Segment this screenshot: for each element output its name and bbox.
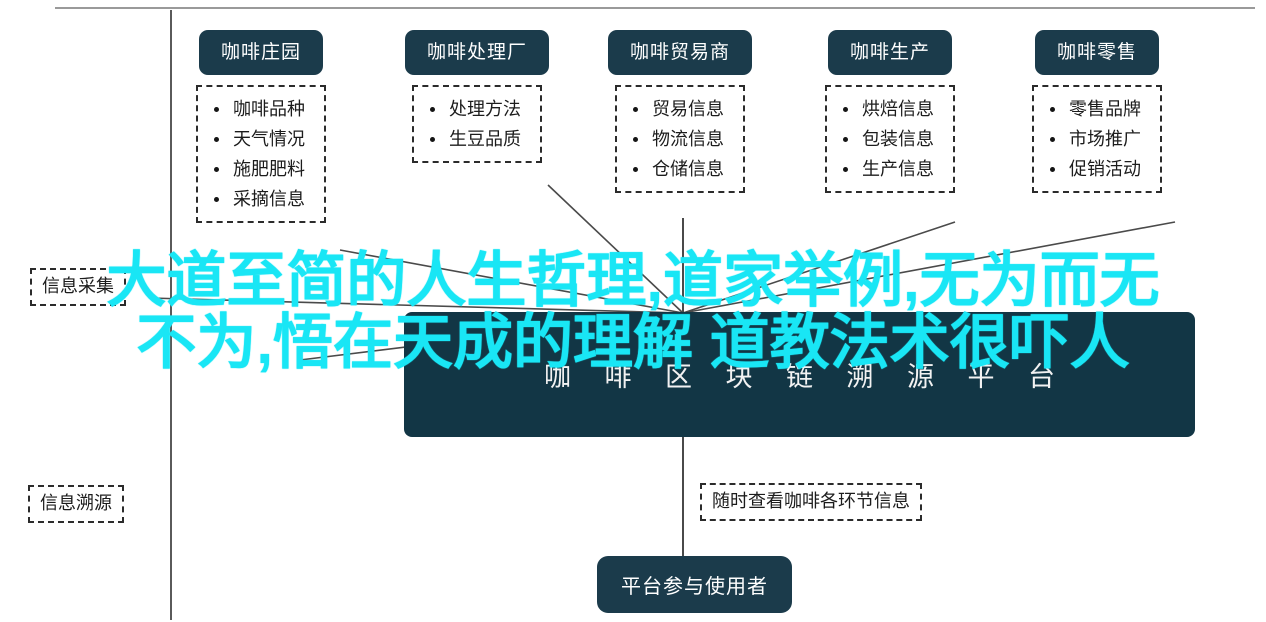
- list-item-label: 处理方法: [449, 96, 521, 122]
- bullet-dot-icon: [843, 107, 848, 112]
- list-item: 包装信息: [837, 126, 937, 152]
- list-item: 烘焙信息: [837, 96, 937, 122]
- bullet-dot-icon: [633, 167, 638, 172]
- list-item: 天气情况: [208, 126, 308, 152]
- list-item: 采摘信息: [208, 186, 308, 212]
- bullet-dot-icon: [1050, 137, 1055, 142]
- overlay-caption: 大道至简的人生哲理,道家举例,无为而无 不为,悟在天成的理解 道教法术很吓人: [0, 250, 1266, 374]
- list-item-label: 生豆品质: [449, 126, 521, 152]
- tag-info-traceability: 信息溯源: [28, 485, 124, 523]
- list-item-label: 天气情况: [233, 126, 305, 152]
- list-item: 生产信息: [837, 156, 937, 182]
- bullet-dot-icon: [214, 167, 219, 172]
- node-body-estate: 咖啡品种 天气情况 施肥肥料 采摘信息: [196, 85, 326, 223]
- list-item-label: 采摘信息: [233, 186, 305, 212]
- chain-column-3: 咖啡贸易商 贸易信息 物流信息 仓储信息: [608, 30, 752, 193]
- node-body-production: 烘焙信息 包装信息 生产信息: [825, 85, 955, 193]
- bullet-dot-icon: [214, 137, 219, 142]
- node-body-processing: 处理方法 生豆品质: [412, 85, 542, 163]
- bullet-dot-icon: [633, 107, 638, 112]
- list-item-label: 促销活动: [1069, 156, 1141, 182]
- chain-column-4: 咖啡生产 烘焙信息 包装信息 生产信息: [825, 30, 955, 193]
- chain-column-5: 咖啡零售 零售品牌 市场推广 促销活动: [1032, 30, 1162, 193]
- bullet-dot-icon: [1050, 107, 1055, 112]
- node-platform-users[interactable]: 平台参与使用者: [597, 556, 792, 613]
- list-item-label: 市场推广: [1069, 126, 1141, 152]
- bullet-dot-icon: [633, 137, 638, 142]
- node-body-retail: 零售品牌 市场推广 促销活动: [1032, 85, 1162, 193]
- chain-column-1: 咖啡庄园 咖啡品种 天气情况 施肥肥料 采摘信息: [196, 30, 326, 223]
- center-vertical-connector: [682, 437, 684, 557]
- list-item: 市场推广: [1044, 126, 1144, 152]
- bullet-dot-icon: [214, 197, 219, 202]
- list-item-label: 物流信息: [652, 126, 724, 152]
- bullet-dot-icon: [843, 137, 848, 142]
- list-item-label: 生产信息: [862, 156, 934, 182]
- list-item-label: 咖啡品种: [233, 96, 305, 122]
- list-item: 零售品牌: [1044, 96, 1144, 122]
- list-item: 施肥肥料: [208, 156, 308, 182]
- list-item: 咖啡品种: [208, 96, 308, 122]
- node-head-processing[interactable]: 咖啡处理厂: [405, 30, 549, 75]
- list-item-label: 烘焙信息: [862, 96, 934, 122]
- list-item-label: 仓储信息: [652, 156, 724, 182]
- bullet-dot-icon: [843, 167, 848, 172]
- list-item-label: 贸易信息: [652, 96, 724, 122]
- list-item: 物流信息: [627, 126, 727, 152]
- chain-column-2: 咖啡处理厂 处理方法 生豆品质: [405, 30, 549, 163]
- list-item-label: 包装信息: [862, 126, 934, 152]
- bullet-dot-icon: [430, 107, 435, 112]
- list-item: 处理方法: [424, 96, 524, 122]
- node-head-retail[interactable]: 咖啡零售: [1035, 30, 1159, 75]
- bullet-dot-icon: [214, 107, 219, 112]
- diagram-canvas: 咖啡庄园 咖啡品种 天气情况 施肥肥料 采摘信息 咖啡处理厂 处理方法 生豆品质…: [0, 0, 1266, 622]
- node-body-trader: 贸易信息 物流信息 仓储信息: [615, 85, 745, 193]
- bullet-dot-icon: [430, 137, 435, 142]
- list-item: 贸易信息: [627, 96, 727, 122]
- bullet-dot-icon: [1050, 167, 1055, 172]
- list-item-label: 零售品牌: [1069, 96, 1141, 122]
- top-horizontal-rule: [55, 7, 1255, 9]
- node-head-estate[interactable]: 咖啡庄园: [199, 30, 323, 75]
- node-head-trader[interactable]: 咖啡贸易商: [608, 30, 752, 75]
- tag-view-anytime: 随时查看咖啡各环节信息: [700, 483, 922, 521]
- list-item-label: 施肥肥料: [233, 156, 305, 182]
- node-head-production[interactable]: 咖啡生产: [828, 30, 952, 75]
- list-item: 仓储信息: [627, 156, 727, 182]
- list-item: 促销活动: [1044, 156, 1144, 182]
- list-item: 生豆品质: [424, 126, 524, 152]
